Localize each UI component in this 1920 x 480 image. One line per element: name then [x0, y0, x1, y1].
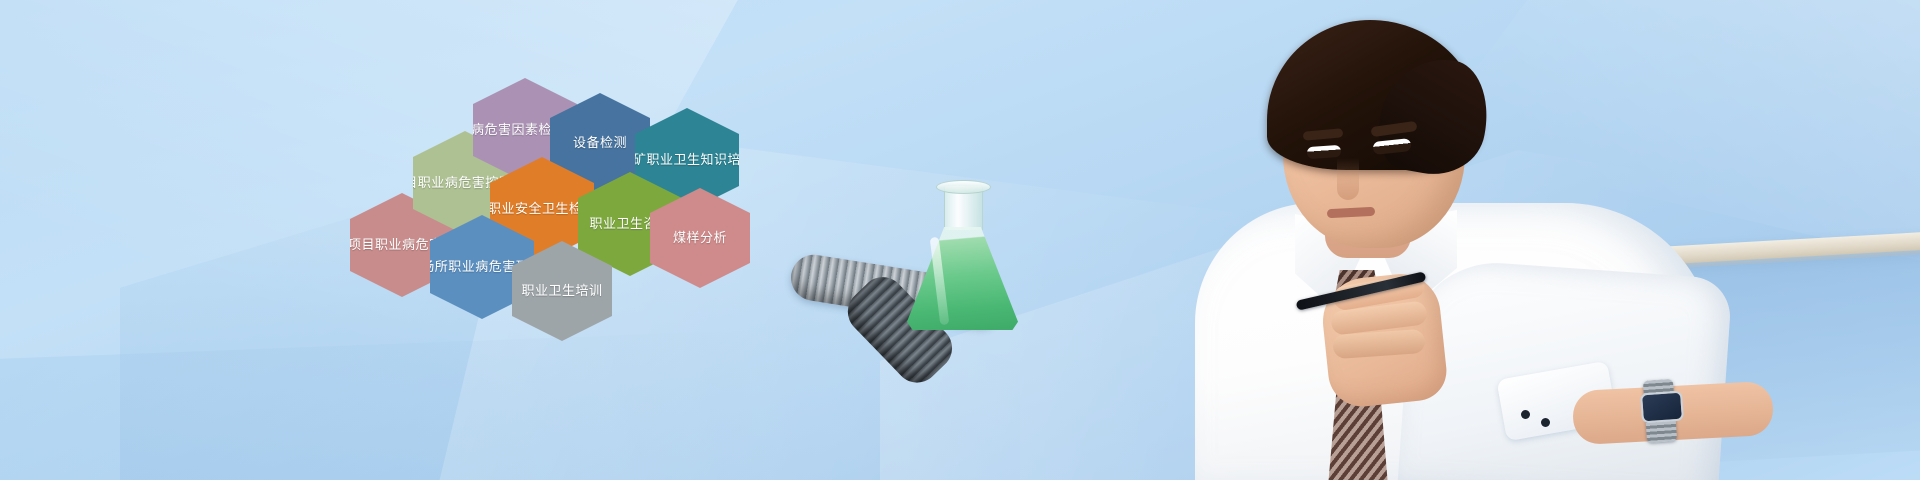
hex-equipment-inspection-label: 设备检测 [563, 134, 637, 153]
cuff-button-1 [1521, 410, 1530, 419]
erlenmeyer-flask-icon [905, 185, 1020, 330]
service-hexagon-cluster: 建设项目职业病危害预评价建设项目职业病危害控制效果评价职业病危害因素检测与评价设… [0, 0, 780, 400]
hex-occupational-training-label: 职业卫生培训 [512, 282, 613, 301]
man-nose [1337, 158, 1359, 200]
cuff-button-2 [1541, 418, 1550, 427]
hex-coal-sample-analysis-label: 煤样分析 [663, 229, 737, 248]
wristwatch-face [1640, 391, 1684, 424]
banner-root: 建设项目职业病危害预评价建设项目职业病危害控制效果评价职业病危害因素检测与评价设… [0, 0, 1920, 480]
flask-lip [936, 180, 991, 194]
lab-scientist-photo [960, 0, 1920, 480]
flask-body-green-liquid [907, 227, 1018, 330]
man-figure [1175, 18, 1735, 480]
